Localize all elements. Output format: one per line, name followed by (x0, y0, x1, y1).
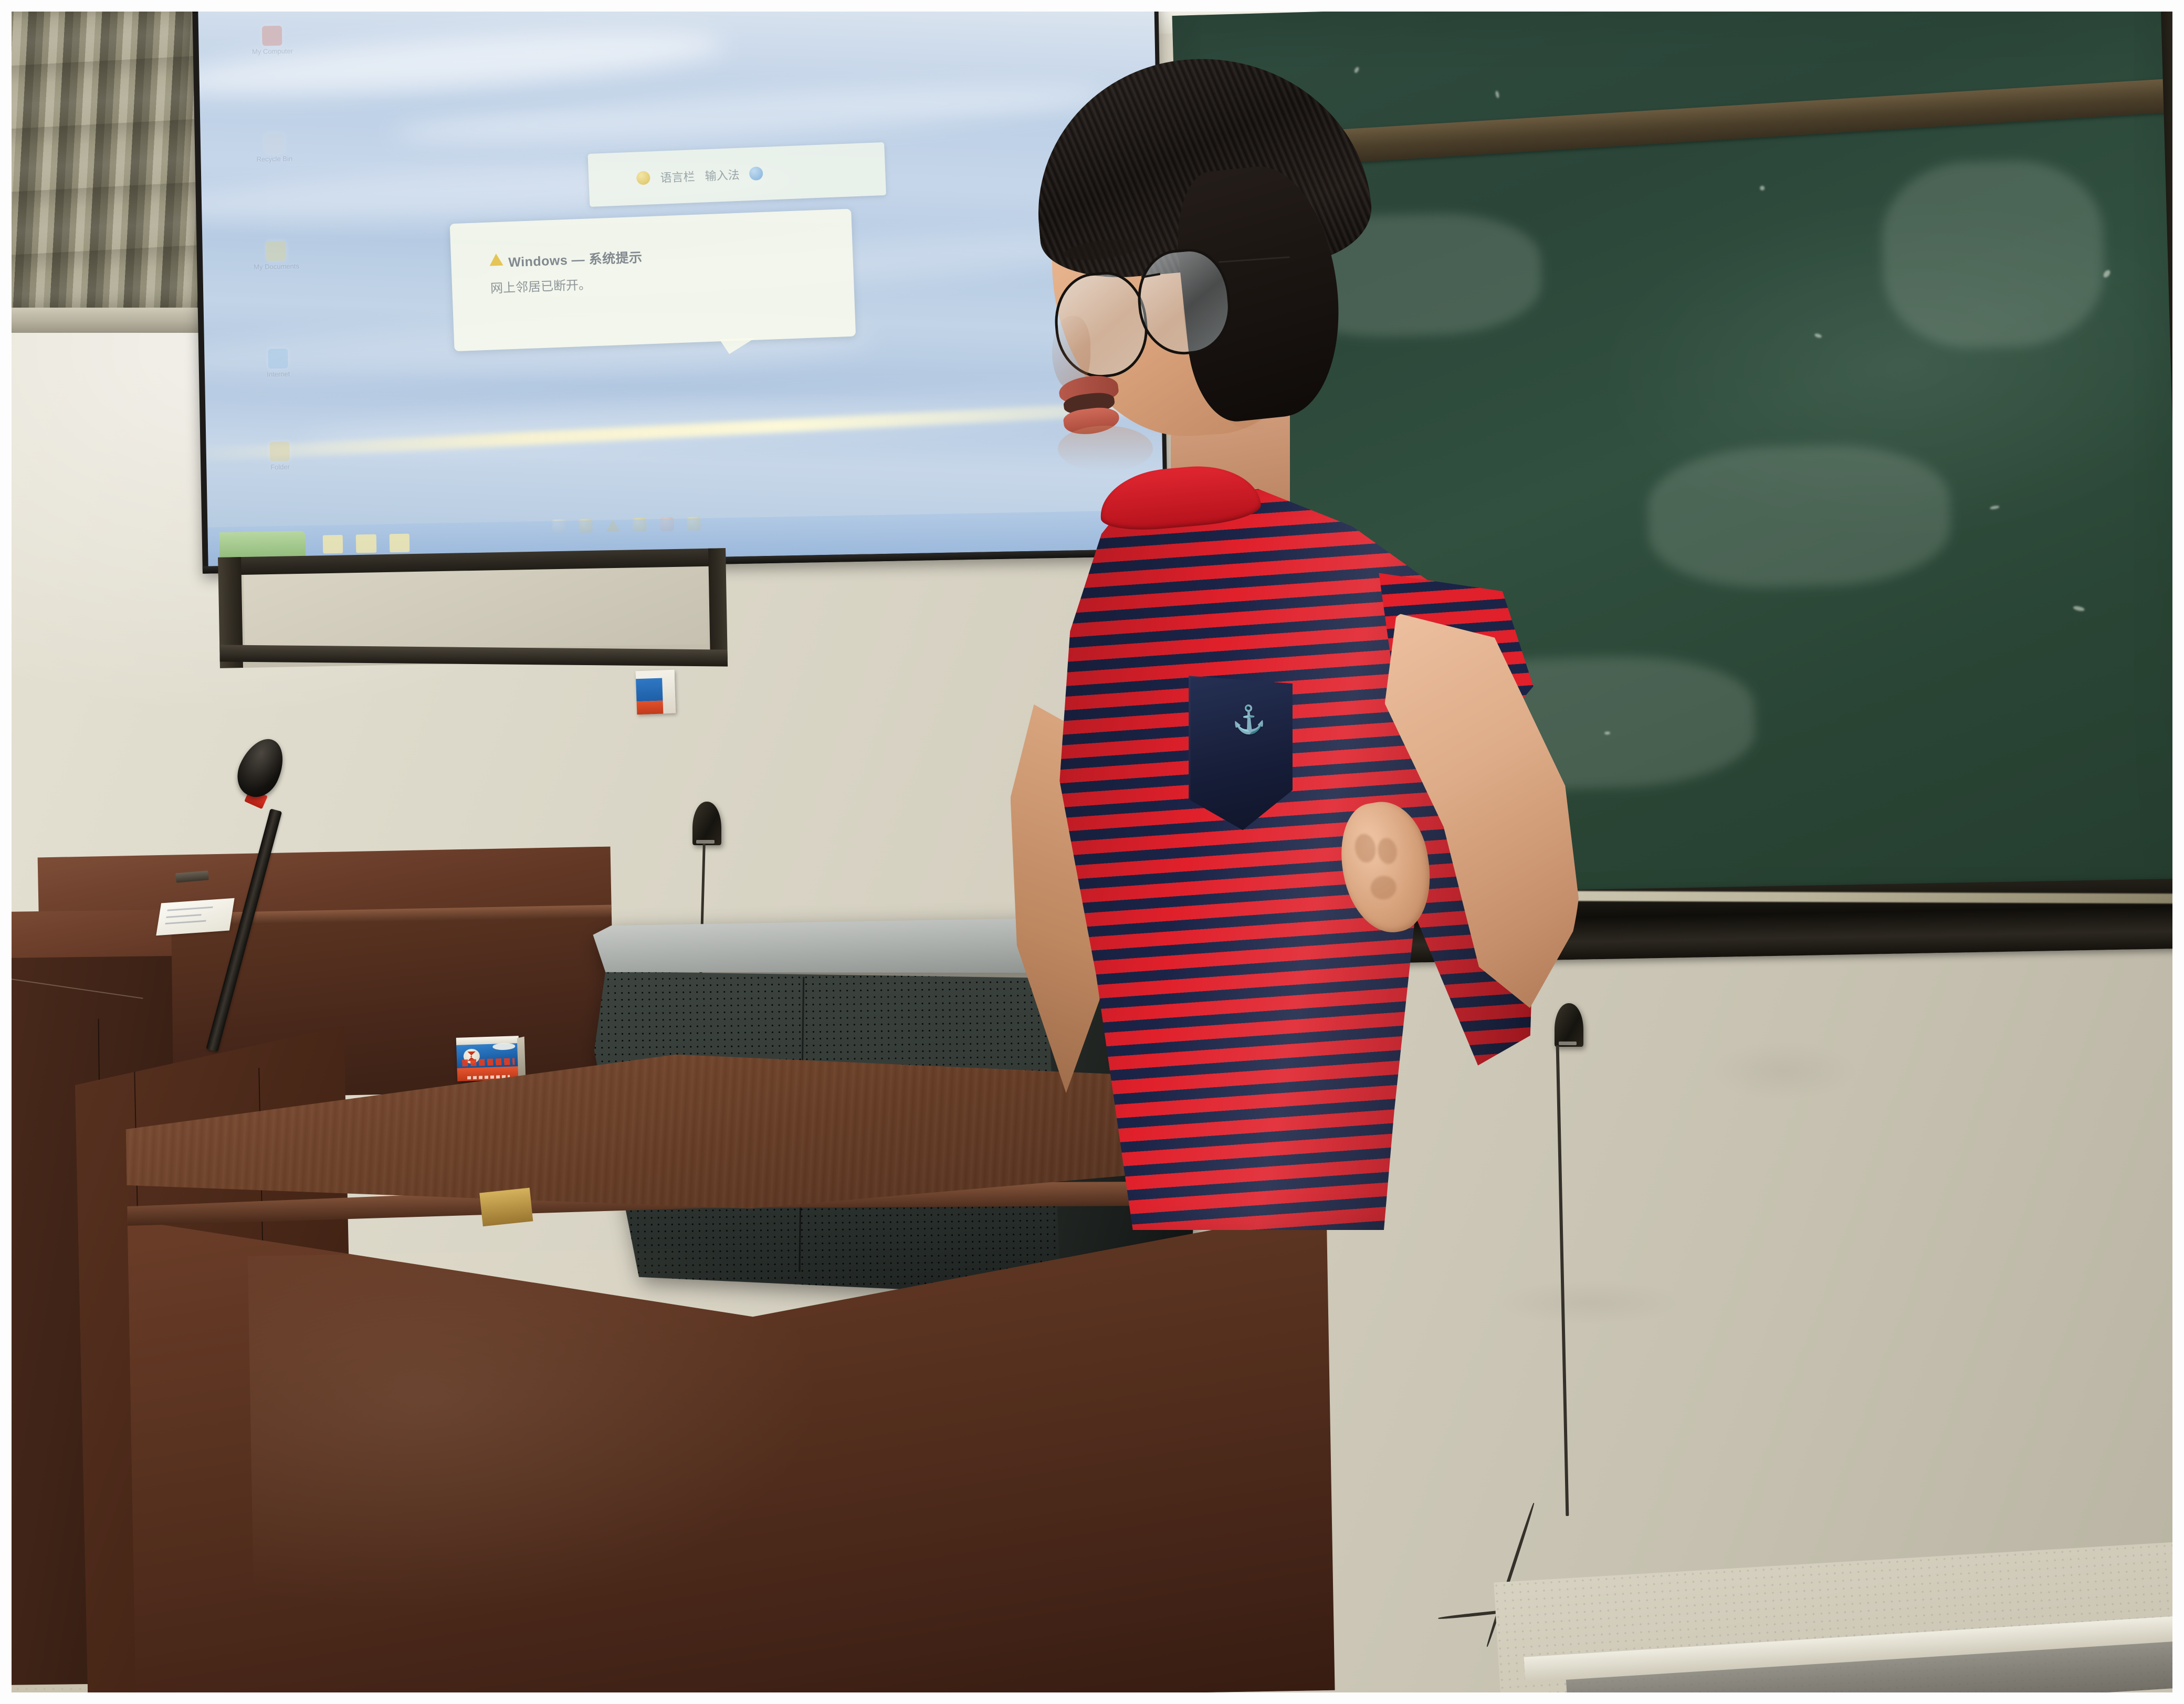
anchor-icon: ⚓ (1232, 706, 1258, 746)
chalk-box-side (661, 670, 676, 714)
ime-toolbar-item[interactable]: 输入法 (705, 165, 740, 184)
quicklaunch-button[interactable] (390, 533, 410, 552)
my-computer-icon (262, 25, 282, 46)
desktop-icon-my-computer[interactable]: My Computer (229, 25, 316, 56)
desktop-icon-recycle-bin[interactable]: Recycle Bin (231, 132, 318, 163)
presenter-chin (1058, 426, 1153, 471)
paper-text-line (167, 907, 213, 911)
cloud-band (391, 76, 1109, 153)
desktop-icon-column: My Computer Recycle Bin My Documents (229, 25, 324, 515)
internet-icon (268, 348, 288, 369)
warning-icon (489, 253, 503, 266)
desktop-icon-label: Internet (235, 369, 321, 378)
board-frame-ledge (218, 548, 728, 668)
ime-toolbar-item[interactable]: 语言栏 (660, 167, 695, 186)
paper-text-line (165, 920, 206, 924)
desktop-icon-internet[interactable]: Internet (235, 348, 321, 378)
balloon-title: Windows — 系统提示 (508, 247, 643, 271)
podium-sheen (248, 1246, 830, 1618)
paper-text-line (166, 914, 201, 918)
my-documents-icon (266, 240, 287, 261)
desktop-icon-my-documents[interactable]: My Documents (233, 240, 320, 271)
notification-balloon[interactable]: Windows — 系统提示 网上邻居已断开。 (449, 208, 856, 351)
desktop-icon-label: Folder (237, 462, 323, 471)
knuckle (1369, 874, 1399, 902)
desktop-icon-folder[interactable]: Folder (237, 440, 323, 471)
chalk-box-on-ledge[interactable] (635, 670, 676, 715)
ime-language-toolbar[interactable]: 语言栏 输入法 (587, 142, 886, 206)
recycle-bin-icon (264, 133, 285, 153)
ime-logo-icon (636, 171, 650, 185)
chalk-smear (1646, 442, 1951, 590)
speaker-lip (696, 840, 714, 844)
balloon-body: 网上邻居已断开。 (490, 266, 815, 296)
podium-brass-corner (479, 1187, 533, 1226)
folder-icon (270, 441, 290, 461)
knuckle (1353, 832, 1378, 864)
quicklaunch-button[interactable] (356, 534, 376, 553)
desktop-icon-label: Recycle Bin (232, 154, 318, 163)
ime-settings-icon[interactable] (749, 166, 763, 181)
knuckle (1376, 836, 1399, 866)
balloon-header: Windows — 系统提示 (489, 240, 814, 271)
photograph: My Computer Recycle Bin My Documents (0, 0, 2184, 1704)
presenter: ⚓ (1016, 87, 1611, 1230)
board-right-post (708, 548, 728, 659)
board-inner-panel (244, 565, 707, 653)
paper-note-on-desk[interactable] (156, 898, 234, 935)
chalk-smear (1880, 157, 2106, 350)
quicklaunch-button[interactable] (322, 534, 343, 553)
desktop-icon-label: My Computer (229, 46, 316, 56)
scene-stage: My Computer Recycle Bin My Documents (12, 12, 2172, 1692)
desktop-icon-label: My Documents (233, 261, 319, 271)
